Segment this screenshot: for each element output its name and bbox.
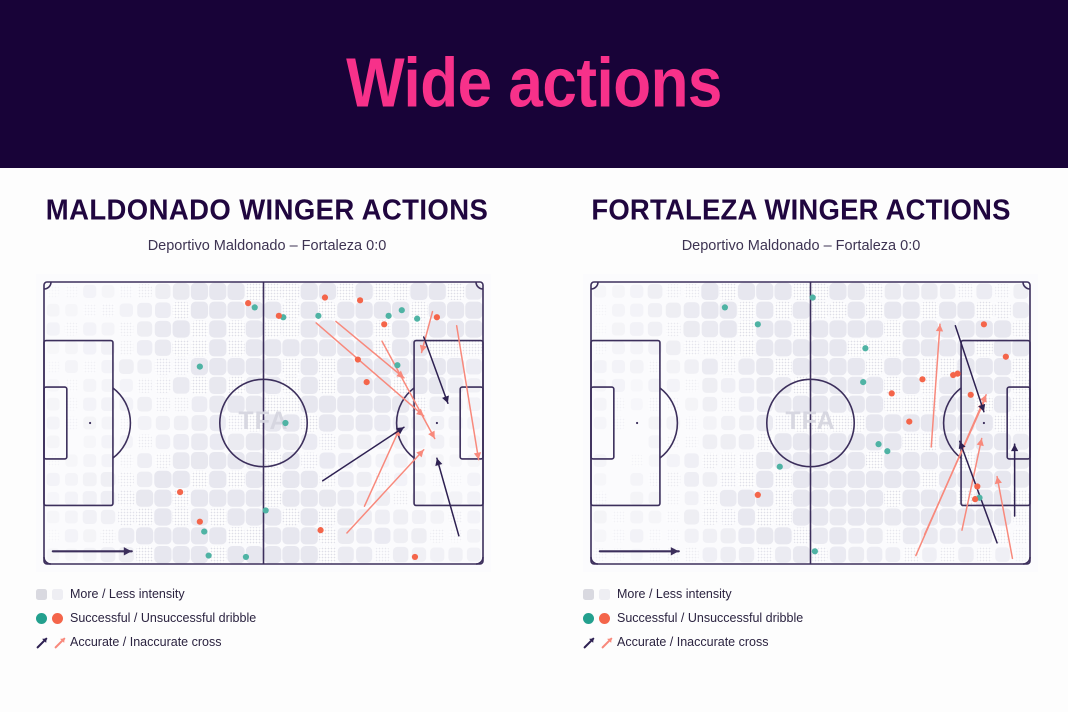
pitch-fortaleza[interactable]: TFA	[583, 274, 1038, 572]
legend-label: More / Less intensity	[70, 587, 185, 601]
legend-item: Accurate / Inaccurate cross	[583, 631, 943, 653]
intensity-swatches	[36, 589, 70, 600]
pitch-maldonado[interactable]: TFA	[36, 274, 491, 572]
legend-fortaleza: More / Less intensity Successful / Unsuc…	[583, 583, 943, 655]
accurate-cross-icon	[36, 636, 49, 649]
legend-item: Accurate / Inaccurate cross	[36, 631, 396, 653]
legend-label: More / Less intensity	[617, 587, 732, 601]
dribble-swatches	[583, 613, 617, 624]
pitch-svg-maldonado: TFA	[36, 274, 491, 572]
panel-fortaleza: FORTALEZA WINGER ACTIONS Deportivo Maldo…	[534, 168, 1068, 712]
more-intensity-icon	[583, 589, 594, 600]
page-title: Wide actions	[346, 49, 722, 118]
legend-item: More / Less intensity	[583, 583, 943, 605]
panel-maldonado: MALDONADO WINGER ACTIONS Deportivo Maldo…	[0, 168, 534, 712]
more-intensity-icon	[36, 589, 47, 600]
legend-label: Successful / Unsuccessful dribble	[70, 611, 256, 625]
successful-dribble-icon	[36, 613, 47, 624]
pitch-svg-fortaleza: TFA	[583, 274, 1038, 572]
panel-subtitle-fortaleza: Deportivo Maldonado – Fortaleza 0:0	[534, 238, 1068, 254]
page-root: Wide actions MALDONADO WINGER ACTIONS De…	[0, 0, 1068, 712]
accurate-cross-icon	[583, 636, 596, 649]
unsuccessful-dribble-icon	[599, 613, 610, 624]
header-banner: Wide actions	[0, 0, 1068, 168]
legend-item: Successful / Unsuccessful dribble	[583, 607, 943, 629]
svg-text:TFA: TFA	[785, 407, 835, 435]
panel-title-fortaleza: FORTALEZA WINGER ACTIONS	[534, 193, 1068, 227]
cross-swatches	[583, 636, 617, 649]
legend-maldonado: More / Less intensity Successful / Unsuc…	[36, 583, 396, 655]
legend-item: Successful / Unsuccessful dribble	[36, 607, 396, 629]
legend-item: More / Less intensity	[36, 583, 396, 605]
svg-text:TFA: TFA	[238, 407, 288, 435]
unsuccessful-dribble-icon	[52, 613, 63, 624]
panel-title-maldonado: MALDONADO WINGER ACTIONS	[0, 193, 534, 227]
legend-label: Accurate / Inaccurate cross	[617, 635, 768, 649]
less-intensity-icon	[52, 589, 63, 600]
panel-subtitle-maldonado: Deportivo Maldonado – Fortaleza 0:0	[0, 238, 534, 254]
less-intensity-icon	[599, 589, 610, 600]
legend-label: Successful / Unsuccessful dribble	[617, 611, 803, 625]
inaccurate-cross-icon	[601, 636, 614, 649]
legend-label: Accurate / Inaccurate cross	[70, 635, 221, 649]
inaccurate-cross-icon	[54, 636, 67, 649]
successful-dribble-icon	[583, 613, 594, 624]
intensity-swatches	[583, 589, 617, 600]
dribble-swatches	[36, 613, 70, 624]
cross-swatches	[36, 636, 70, 649]
